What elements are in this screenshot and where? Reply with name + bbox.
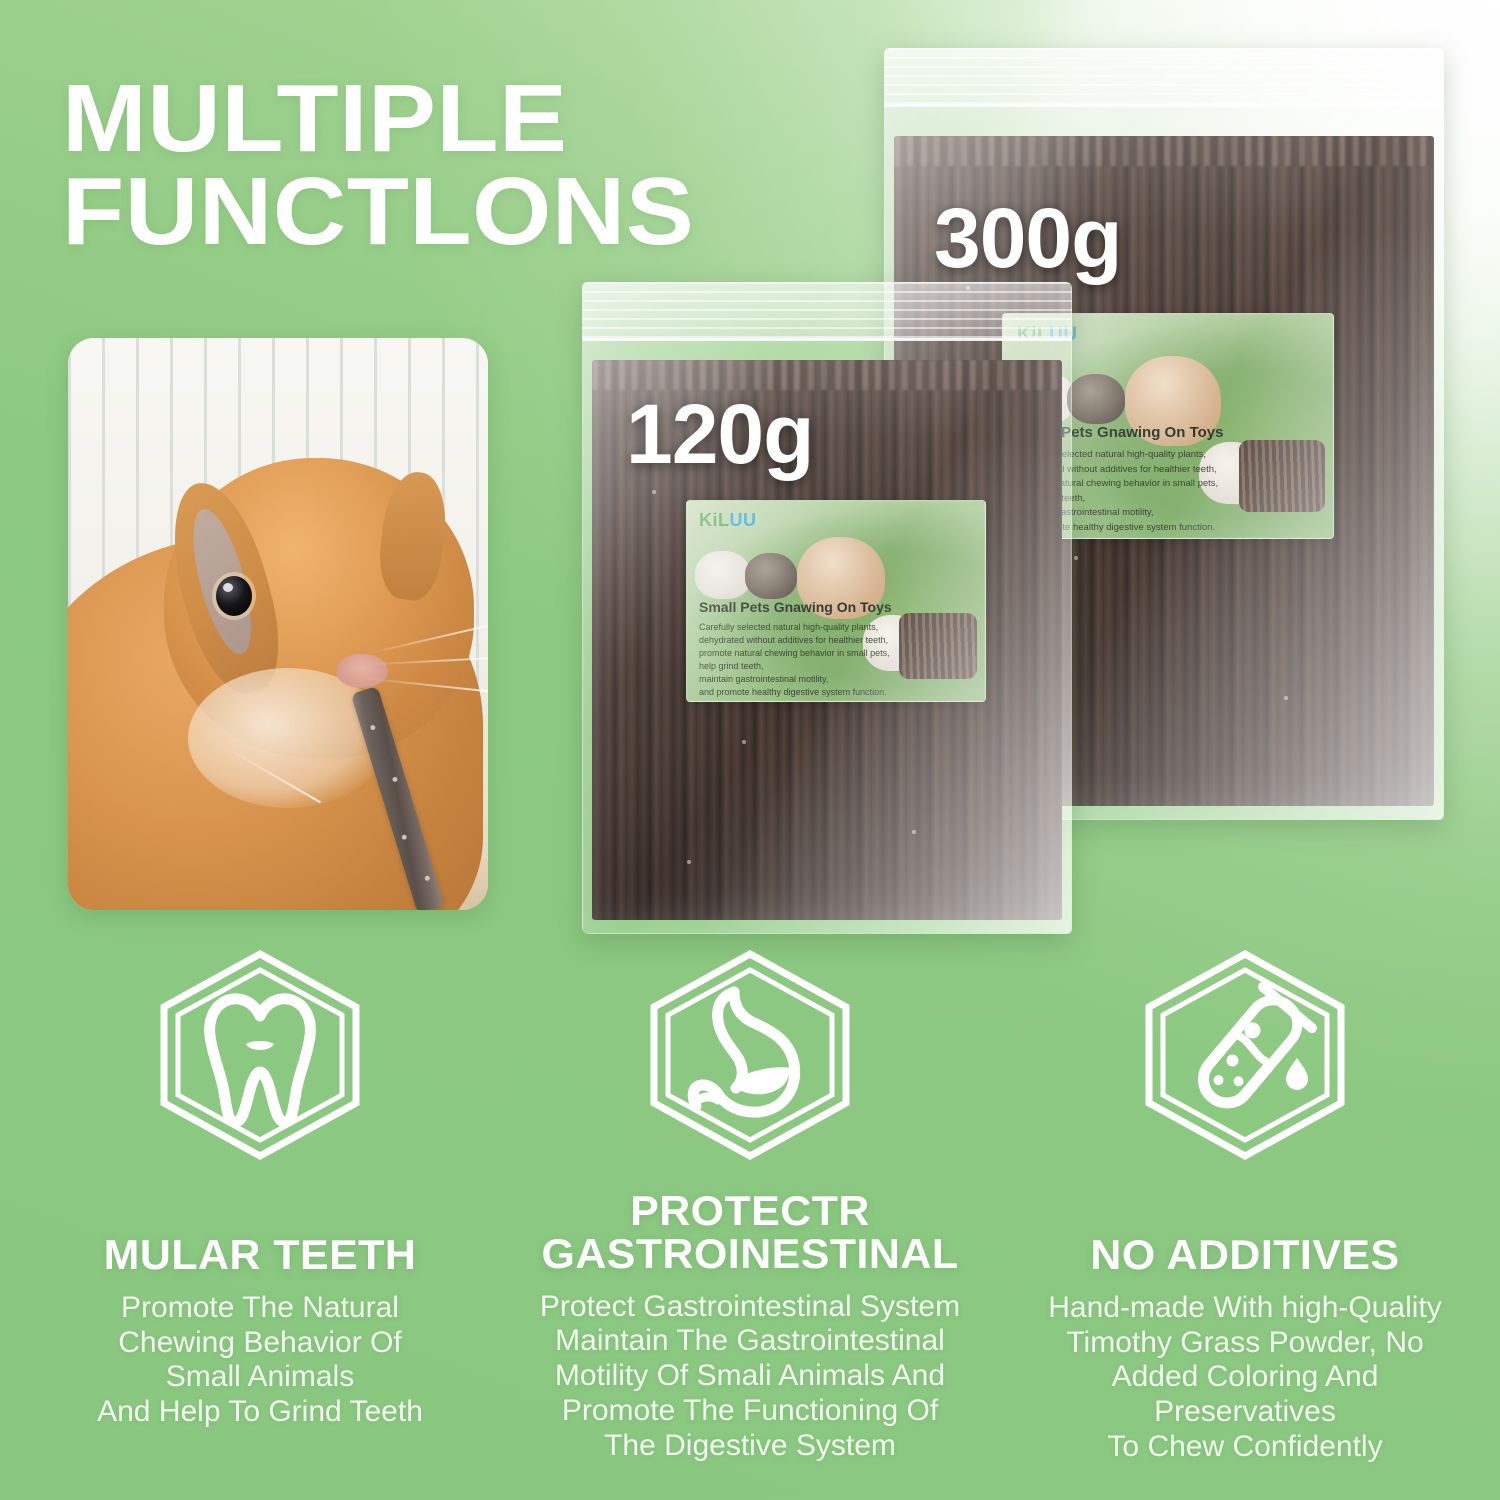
product-label-120g: KiLUU Small Pets Gnawing On Toys Careful…: [686, 500, 986, 702]
label-gloss: [687, 501, 985, 701]
feature-body: Promote The Natural Chewing Behavior Of …: [30, 1291, 490, 1430]
product-bag-120g: KiLUU Small Pets Gnawing On Toys Careful…: [582, 282, 1072, 934]
feature-icon-wrap: [30, 940, 490, 1170]
feature-icon-wrap: [1010, 940, 1480, 1170]
rabbit-chewing-stick-photo: [68, 338, 488, 910]
feature-heading: PROTECTR GASTROINESTINAL: [485, 1190, 1015, 1276]
rabbit-cheek-highlight: [188, 668, 388, 808]
infographic-canvas: MULTIPLE FUNCTLONS: [0, 0, 1500, 1500]
feature-no-additives: NO ADDITIVES Hand-made With high-Quality…: [1010, 940, 1480, 1465]
feature-mular-teeth: MULAR TEETH Promote The Natural Chewing …: [30, 940, 490, 1430]
ziplock-seal-120g: [582, 282, 1072, 341]
feature-protect-gastrointestinal: PROTECTR GASTROINESTINAL Protect Gastroi…: [490, 940, 1010, 1464]
weight-badge-120g: 120g: [626, 386, 813, 483]
feature-icon-wrap: [490, 940, 1010, 1170]
page-title: MULTIPLE FUNCTLONS: [62, 72, 694, 258]
rabbit-nose: [336, 654, 388, 688]
test-tube-icon: [1125, 940, 1365, 1170]
weight-badge-300g: 300g: [934, 190, 1121, 287]
feature-body: Hand-made With high-Quality Timothy Gras…: [1010, 1291, 1480, 1465]
feature-body: Protect Gastrointestinal System Maintain…: [490, 1290, 1010, 1464]
feature-row: MULAR TEETH Promote The Natural Chewing …: [0, 940, 1500, 1500]
feature-heading: MULAR TEETH: [25, 1234, 494, 1277]
rabbit-eye: [216, 576, 252, 616]
stomach-icon: [630, 940, 870, 1170]
tooth-icon: [140, 940, 380, 1170]
feature-heading: NO ADDITIVES: [1005, 1234, 1484, 1277]
ziplock-seal-300g: [884, 48, 1444, 107]
